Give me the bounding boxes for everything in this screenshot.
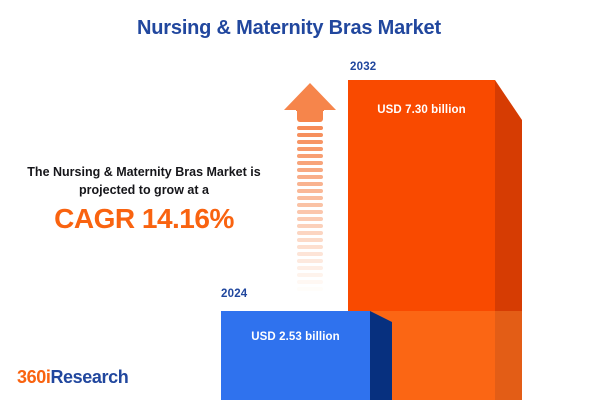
arrow-stripe: [297, 147, 323, 151]
arrow-stripe: [297, 224, 323, 228]
cagr-value-text: CAGR 14.16%: [20, 203, 268, 235]
page-title: Nursing & Maternity Bras Market: [0, 17, 578, 40]
arrow-head-icon: [283, 82, 337, 112]
arrow-stripe: [297, 154, 323, 158]
year-label-2024: 2024: [221, 288, 247, 300]
arrow-stripe: [297, 133, 323, 137]
arrow-stripe: [297, 210, 323, 214]
arrow-stripe: [297, 140, 323, 144]
arrow-neck: [297, 109, 323, 122]
arrow-stripe: [297, 126, 323, 130]
arrow-stripe: [297, 196, 323, 200]
brand-logo: 360iResearch: [17, 367, 128, 388]
arrow-stripe: [297, 182, 323, 186]
growth-arrow-icon: [283, 82, 337, 294]
arrow-stripe: [297, 280, 323, 284]
infographic-canvas: Nursing & Maternity Bras Market 2032 USD…: [0, 0, 600, 400]
arrow-stripe: [297, 287, 323, 291]
arrow-stripe: [297, 217, 323, 221]
arrow-stripe: [297, 203, 323, 207]
arrow-stripe: [297, 259, 323, 263]
arrow-stripe: [297, 238, 323, 242]
bar-2032-side-face: [495, 80, 522, 400]
bar-2024: USD 2.53 billion: [221, 311, 392, 400]
cagr-lead-text: The Nursing & Maternity Bras Market is p…: [20, 163, 268, 199]
arrow-stripe: [297, 175, 323, 179]
arrow-stripe: [297, 245, 323, 249]
brand-logo-part2: Research: [50, 367, 128, 387]
arrow-stripe: [297, 266, 323, 270]
arrow-stripe: [297, 231, 323, 235]
bar-2024-value-label: USD 2.53 billion: [221, 331, 370, 343]
year-label-2032: 2032: [350, 61, 376, 73]
bar-2024-side-face: [370, 311, 392, 400]
brand-logo-part1: 360i: [17, 367, 50, 387]
arrow-stripe: [297, 168, 323, 172]
arrow-stripe: [297, 189, 323, 193]
bar-2024-front-face: [221, 311, 370, 400]
arrow-stripe: [297, 161, 323, 165]
arrow-stripe: [297, 273, 323, 277]
cagr-callout: The Nursing & Maternity Bras Market is p…: [20, 163, 268, 235]
arrow-stripe: [297, 252, 323, 256]
bar-2032-value-label: USD 7.30 billion: [348, 104, 495, 116]
